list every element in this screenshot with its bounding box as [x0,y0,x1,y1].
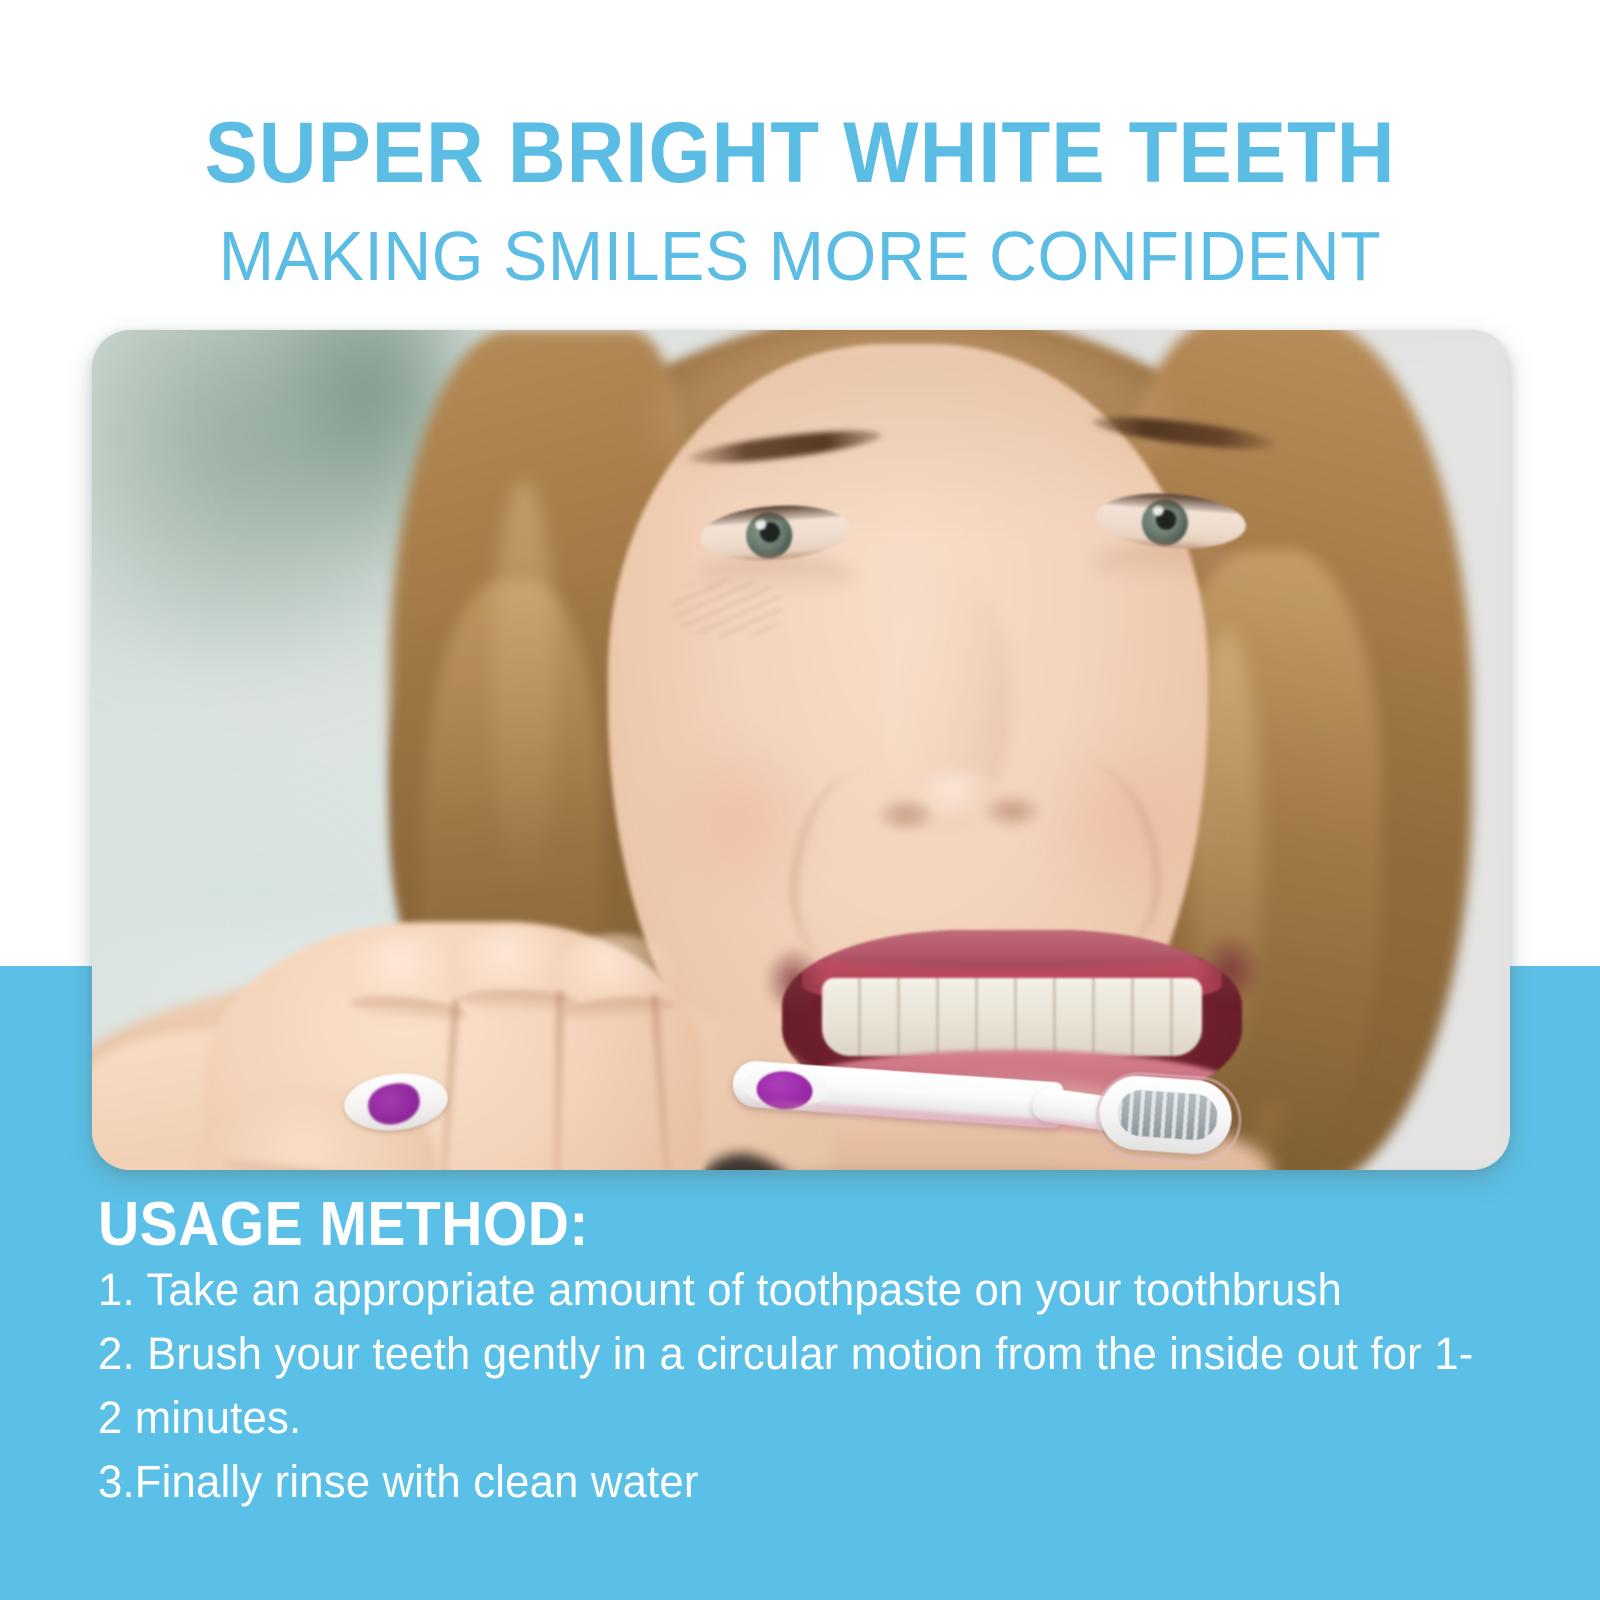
header-block: SUPER BRIGHT WHITE TEETH MAKING SMILES M… [0,0,1600,292]
mouth-corner-right [1198,934,1262,1006]
usage-step-1: 1. Take an appropriate amount of toothpa… [98,1258,1475,1322]
usage-section: USAGE METHOD: 1. Take an appropriate amo… [98,1192,1518,1514]
page-subtitle: MAKING SMILES MORE CONFIDENT [40,196,1560,292]
mouth-corner-left [764,946,824,1016]
usage-step-3: 3.Finally rinse with clean water [98,1450,1475,1514]
teeth-gaps [822,978,1202,1056]
page-title: SUPER BRIGHT WHITE TEETH [56,0,1544,196]
usage-heading: USAGE METHOD: [98,1192,1404,1258]
crows-feet [672,580,782,636]
under-eye-right [1092,544,1252,584]
infographic-page: SUPER BRIGHT WHITE TEETH MAKING SMILES M… [0,0,1600,1600]
hero-photo-card [92,330,1510,1170]
usage-steps-list: 1. Take an appropriate amount of toothpa… [98,1258,1518,1514]
usage-step-2: 2. Brush your teeth gently in a circular… [98,1322,1475,1450]
toothbrush-head-outline [1093,1069,1245,1167]
hero-photo [92,330,1510,1170]
hair-highlight-left [492,480,556,900]
forehead-shading [652,330,1172,520]
